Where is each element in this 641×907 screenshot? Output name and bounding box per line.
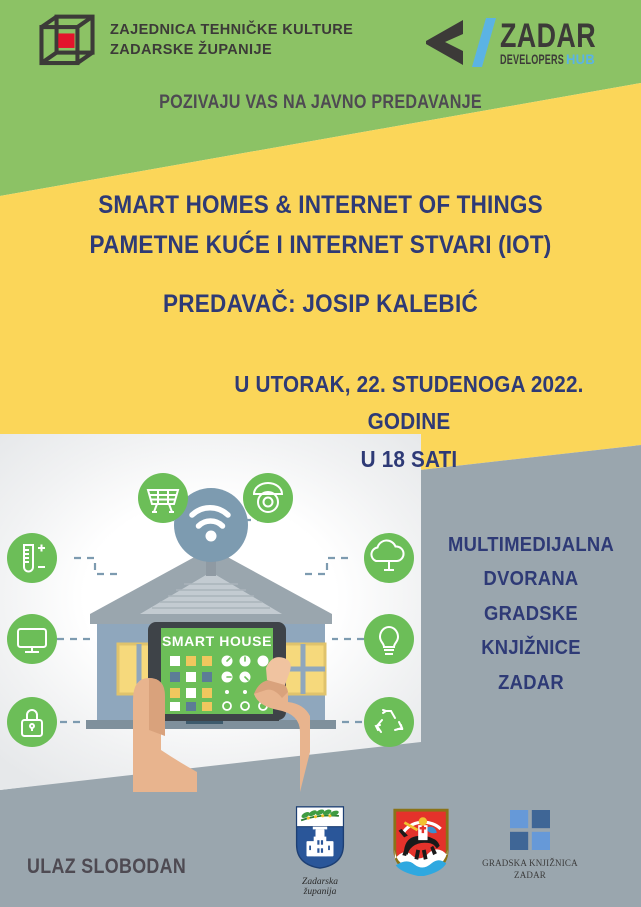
security-camera-icon <box>243 473 293 523</box>
thermometer-icon <box>7 533 57 583</box>
gradska-knjiznica-zadar-logo: GRADSKA KNJIŽNICA ZADAR <box>475 810 585 881</box>
zadarska-zupanija-caption: Zadarska županija <box>285 877 355 897</box>
gkz-caption: GRADSKA KNJIŽNICA ZADAR <box>475 858 585 881</box>
venue-line3: GRADSKE KNJIŽNICE <box>433 597 628 666</box>
solar-panel-icon <box>138 473 188 523</box>
headline-block: SMART HOMES & INTERNET OF THINGS PAMETNE… <box>0 186 641 265</box>
svg-text:HUB: HUB <box>566 51 595 67</box>
venue-line1: MULTIMEDIJALNA <box>433 528 628 562</box>
lightbulb-icon <box>364 614 414 664</box>
venue-line2: DVORANA <box>433 562 628 596</box>
ztk-logo-line2: ZADARSKE ŽUPANIJE <box>110 41 353 61</box>
slash-icon <box>472 18 496 67</box>
smart-house-illustration: SMART HOUSE <box>0 432 421 792</box>
connector-line-cloud <box>305 558 348 574</box>
svg-text:ZADAR: ZADAR <box>500 17 596 55</box>
poster-header: ZAJEDNICA TEHNIČKE KULTURE ZADARSKE ŽUPA… <box>0 0 641 90</box>
cube-icon <box>38 12 96 70</box>
speaker-line: PREDAVAČ: JOSIP KALEBIĆ <box>32 290 609 319</box>
poster: ZAJEDNICA TEHNIČKE KULTURE ZADARSKE ŽUPA… <box>0 0 641 907</box>
zadarska-zupanija-coat-of-arms: Zadarska županija <box>285 805 355 897</box>
tablet-label: SMART HOUSE <box>162 633 272 649</box>
gkz-caption-line2: ZADAR <box>475 870 585 882</box>
datetime-block: U UTORAK, 22. STUDENOGA 2022. GODINE U 1… <box>199 366 619 478</box>
venue-block: MULTIMEDIJALNA DVORANA GRADSKE KNJIŽNICE… <box>425 528 637 700</box>
time-line: U 18 SATI <box>220 441 598 478</box>
code-bracket-icon <box>426 20 463 65</box>
title-croatian: PAMETNE KUĆE I INTERNET STVARI (IOT) <box>32 226 609 266</box>
zdh-logo: ZADAR DEVELOPERS HUB <box>420 14 600 72</box>
gkz-caption-line1: GRADSKA KNJIŽNICA <box>475 858 585 870</box>
free-entry-label: ULAZ SLOBODAN <box>27 855 186 879</box>
ztk-logo-line1: ZAJEDNICA TEHNIČKE KULTURE <box>110 21 353 41</box>
svg-text:DEVELOPERS: DEVELOPERS <box>500 51 564 67</box>
zdh-logo-graphic: ZADAR DEVELOPERS HUB <box>420 14 600 72</box>
grad-zadar-coat-of-arms <box>385 808 457 881</box>
monitor-icon <box>7 614 57 664</box>
ztk-logo-text: ZAJEDNICA TEHNIČKE KULTURE ZADARSKE ŽUPA… <box>110 21 353 60</box>
lock-icon <box>7 697 57 747</box>
ztk-logo: ZAJEDNICA TEHNIČKE KULTURE ZADARSKE ŽUPA… <box>38 12 353 70</box>
title-english: SMART HOMES & INTERNET OF THINGS <box>32 186 609 226</box>
recycle-icon <box>364 697 414 747</box>
connector-line-thermometer <box>74 558 118 574</box>
invitation-subtitle: POZIVAJU VAS NA JAVNO PREDAVANJE <box>48 92 593 114</box>
cloud-icon <box>364 533 414 583</box>
four-squares-icon <box>510 810 550 850</box>
footer-logo-row: Zadarska županija <box>270 805 630 900</box>
venue-line4: ZADAR <box>433 666 628 700</box>
date-line: U UTORAK, 22. STUDENOGA 2022. GODINE <box>220 366 598 441</box>
tablet-and-hands: SMART HOUSE <box>133 622 310 792</box>
